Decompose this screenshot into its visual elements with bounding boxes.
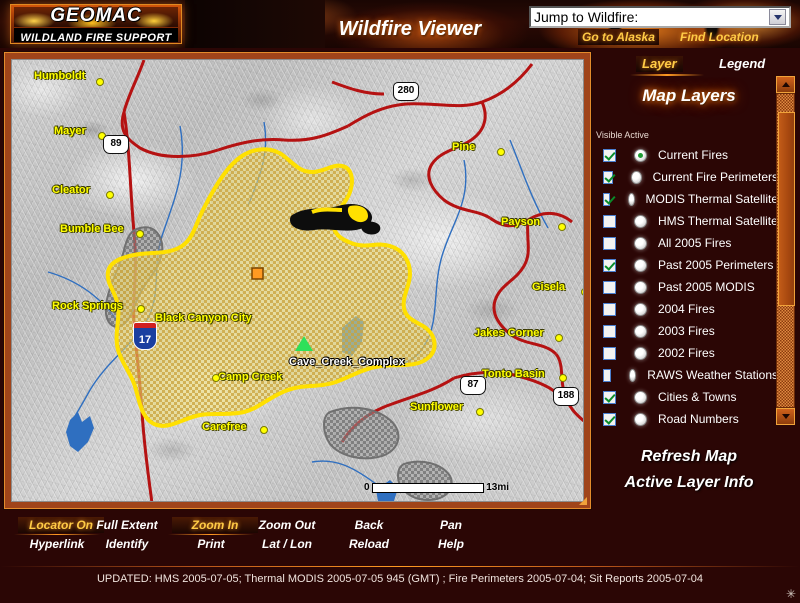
layer-label: All 2005 Fires xyxy=(658,236,731,250)
map-city-label: Pine xyxy=(452,141,475,153)
map-city-dot-icon xyxy=(581,288,584,296)
jump-to-wildfire-value: Jump to Wildfire: xyxy=(534,8,769,26)
road-shield-188: 188 xyxy=(553,387,579,406)
layer-label: 2003 Fires xyxy=(658,324,715,338)
map-city-dot-icon xyxy=(96,78,104,86)
find-location-button[interactable]: Find Location xyxy=(680,29,759,45)
geomac-logo-subtitle: WILDLAND FIRE SUPPORT xyxy=(20,32,171,44)
layers-panel: Layer Legend Map Layers Visible Active C… xyxy=(596,52,800,552)
map-vector-overlay xyxy=(12,60,584,502)
scale-min-label: 0 xyxy=(364,482,370,494)
layers-panel-title: Map Layers xyxy=(596,86,782,106)
map-city-label: Humboldt xyxy=(34,70,85,82)
layer-label: Road Numbers xyxy=(658,412,739,426)
scroll-up-icon[interactable] xyxy=(776,76,795,93)
layer-label: 2002 Fires xyxy=(658,346,715,360)
geomac-logo-flames: GEOMAC xyxy=(14,7,178,27)
layer-row[interactable]: All 2005 Fires xyxy=(596,232,778,254)
layer-visible-checkbox[interactable] xyxy=(603,237,616,250)
layer-visible-checkbox[interactable] xyxy=(603,171,613,184)
layers-column-header: Visible Active xyxy=(596,130,649,141)
active-fire-marker-icon[interactable] xyxy=(295,336,313,351)
tool-print[interactable]: Print xyxy=(172,536,250,552)
layer-row[interactable]: 2002 Fires xyxy=(596,342,778,364)
layer-visible-checkbox[interactable] xyxy=(603,369,611,382)
jump-to-wildfire-select[interactable]: Jump to Wildfire: xyxy=(529,6,791,28)
map-toolbar: Locator OnFull ExtentZoom InZoom OutBack… xyxy=(0,512,596,558)
tool-zoom-in[interactable]: Zoom In xyxy=(172,517,258,533)
layer-row[interactable]: Cities & Towns xyxy=(596,386,778,408)
layer-row[interactable]: Past 2005 Perimeters xyxy=(596,254,778,276)
road-shield-87: 87 xyxy=(460,376,486,395)
layer-label: Current Fires xyxy=(658,148,728,162)
refresh-map-button[interactable]: Refresh Map xyxy=(596,444,782,470)
layer-row[interactable]: Current Fire Perimeters xyxy=(596,166,778,188)
layer-visible-checkbox[interactable] xyxy=(603,259,616,272)
go-to-alaska-button[interactable]: Go to Alaska xyxy=(578,29,659,45)
layer-row[interactable]: RAWS Weather Stations xyxy=(596,364,778,386)
corner-asterisk-icon: ✳ xyxy=(786,588,796,600)
layer-row[interactable]: MODIS Thermal Satellite xyxy=(596,188,778,210)
tool-full-extent[interactable]: Full Extent xyxy=(88,517,166,533)
layer-visible-checkbox[interactable] xyxy=(603,391,616,404)
layer-active-radio[interactable] xyxy=(631,171,641,184)
tool-zoom-out[interactable]: Zoom Out xyxy=(248,517,326,533)
road-shield-89: 89 xyxy=(103,135,129,154)
layer-label: 2004 Fires xyxy=(658,302,715,316)
map-frame: HumboldtMayerCleatorBumble BeeRock Sprin… xyxy=(4,52,591,509)
layer-label: Past 2005 Perimeters xyxy=(658,258,773,272)
status-bar: UPDATED: HMS 2005-07-05; Thermal MODIS 2… xyxy=(0,572,800,586)
geomac-logo-wordmark: GEOMAC xyxy=(14,6,178,26)
scroll-down-icon[interactable] xyxy=(776,408,795,425)
layer-active-radio[interactable] xyxy=(634,281,647,294)
layer-active-radio[interactable] xyxy=(634,303,647,316)
tool-back[interactable]: Back xyxy=(330,517,408,533)
map-city-label: Carefree xyxy=(202,421,247,433)
layer-row[interactable]: 2004 Fires xyxy=(596,298,778,320)
layer-label: Current Fire Perimeters xyxy=(653,170,778,184)
active-layer-info-button[interactable]: Active Layer Info xyxy=(596,470,782,496)
active-fire-label: Cave_Creek_Complex xyxy=(289,356,405,368)
current-fire-perimeter-polygon xyxy=(108,149,435,426)
layer-visible-checkbox[interactable] xyxy=(603,303,616,316)
modis-thermal-pixel xyxy=(252,268,263,279)
tool-help[interactable]: Help xyxy=(412,536,490,552)
map-scale-bar: 0 13mi xyxy=(364,481,509,495)
tool-pan[interactable]: Pan xyxy=(412,517,490,533)
layer-active-radio[interactable] xyxy=(634,149,647,162)
map-city-label: Jakes Corner xyxy=(474,327,544,339)
layer-active-radio[interactable] xyxy=(634,325,647,338)
tab-legend[interactable]: Legend xyxy=(719,56,765,72)
layer-label: Past 2005 MODIS xyxy=(658,280,755,294)
header-links: Go to Alaska Find Location xyxy=(560,29,790,45)
map-city-dot-icon xyxy=(212,374,220,382)
geomac-logo[interactable]: GEOMAC WILDLAND FIRE SUPPORT xyxy=(10,4,182,44)
scale-bar-graphic xyxy=(372,483,485,493)
map-city-dot-icon xyxy=(136,230,144,238)
map-city-dot-icon xyxy=(558,223,566,231)
map-city-label: Mayer xyxy=(54,125,86,137)
tool-identify[interactable]: Identify xyxy=(88,536,166,552)
layer-visible-checkbox[interactable] xyxy=(603,193,610,206)
map-city-label: Rock Springs xyxy=(52,300,123,312)
tool-active-underline xyxy=(168,534,254,535)
map-city-label: Camp Creek xyxy=(218,371,282,383)
panel-tabs: Layer Legend xyxy=(596,52,800,78)
layer-label: RAWS Weather Stations xyxy=(647,368,778,382)
scrollbar-track[interactable] xyxy=(776,93,795,408)
scale-max-label: 13mi xyxy=(486,482,509,494)
layer-active-radio[interactable] xyxy=(634,215,647,228)
app-header: GEOMAC WILDLAND FIRE SUPPORT Wildfire Vi… xyxy=(0,0,800,48)
map-city-dot-icon xyxy=(559,374,567,382)
layer-row[interactable]: 2003 Fires xyxy=(596,320,778,342)
layer-active-radio[interactable] xyxy=(634,413,647,426)
tool-lat-lon[interactable]: Lat / Lon xyxy=(248,536,326,552)
tool-hyperlink[interactable]: Hyperlink xyxy=(18,536,96,552)
map-city-dot-icon xyxy=(497,148,505,156)
map-city-label: Black Canyon City xyxy=(155,312,252,324)
chevron-down-icon[interactable] xyxy=(769,9,786,25)
map-city-dot-icon xyxy=(106,191,114,199)
layer-row[interactable]: Current Fires xyxy=(596,144,778,166)
layer-row[interactable]: Past 2005 MODIS xyxy=(596,276,778,298)
scrollbar-thumb[interactable] xyxy=(778,112,795,306)
layer-visible-checkbox[interactable] xyxy=(603,215,616,228)
layer-active-radio[interactable] xyxy=(634,237,647,250)
map-city-dot-icon xyxy=(137,305,145,313)
geomac-wildfire-viewer-app: GEOMAC WILDLAND FIRE SUPPORT Wildfire Vi… xyxy=(0,0,800,603)
map-city-dot-icon xyxy=(555,334,563,342)
layer-visible-checkbox[interactable] xyxy=(603,413,616,426)
tool-active-underline xyxy=(14,534,100,535)
map-city-label: Gisela xyxy=(532,281,565,293)
page-title: Wildfire Viewer xyxy=(300,18,520,40)
map-city-label: Tonto Basin xyxy=(482,368,545,380)
map-city-label: Payson xyxy=(501,216,540,228)
layer-label: Cities & Towns xyxy=(658,390,736,404)
layers-scrollbar[interactable] xyxy=(776,76,795,425)
layer-active-radio[interactable] xyxy=(628,193,635,206)
layer-visible-checkbox[interactable] xyxy=(603,149,616,162)
layer-active-radio[interactable] xyxy=(634,259,647,272)
layer-label: MODIS Thermal Satellite xyxy=(646,192,779,206)
map-city-dot-icon xyxy=(260,426,268,434)
tab-active-underline xyxy=(630,74,704,76)
footer-divider xyxy=(0,566,800,567)
layer-label: HMS Thermal Satellite xyxy=(658,214,778,228)
layer-visible-checkbox[interactable] xyxy=(603,325,616,338)
layer-active-radio[interactable] xyxy=(629,369,637,382)
map-city-dot-icon xyxy=(476,408,484,416)
road-shield-17: 17 xyxy=(133,326,157,350)
layers-list: Current FiresCurrent Fire PerimetersMODI… xyxy=(596,144,778,430)
map-city-label: Sunflower xyxy=(410,401,463,413)
layer-active-radio[interactable] xyxy=(634,347,647,360)
layer-visible-checkbox[interactable] xyxy=(603,281,616,294)
road-shield-280: 280 xyxy=(393,82,419,101)
map-canvas[interactable]: HumboldtMayerCleatorBumble BeeRock Sprin… xyxy=(11,59,584,502)
geomac-logo-subtitle-bar: WILDLAND FIRE SUPPORT xyxy=(14,28,178,42)
layer-active-radio[interactable] xyxy=(634,391,647,404)
layer-row[interactable]: HMS Thermal Satellite xyxy=(596,210,778,232)
tool-reload[interactable]: Reload xyxy=(330,536,408,552)
map-city-label: Cleator xyxy=(52,184,90,196)
tab-layer[interactable]: Layer xyxy=(636,56,683,72)
layer-visible-checkbox[interactable] xyxy=(603,347,616,360)
panel-actions: Refresh Map Active Layer Info xyxy=(596,444,782,496)
layer-row[interactable]: Road Numbers xyxy=(596,408,778,430)
map-city-label: Bumble Bee xyxy=(60,223,124,235)
